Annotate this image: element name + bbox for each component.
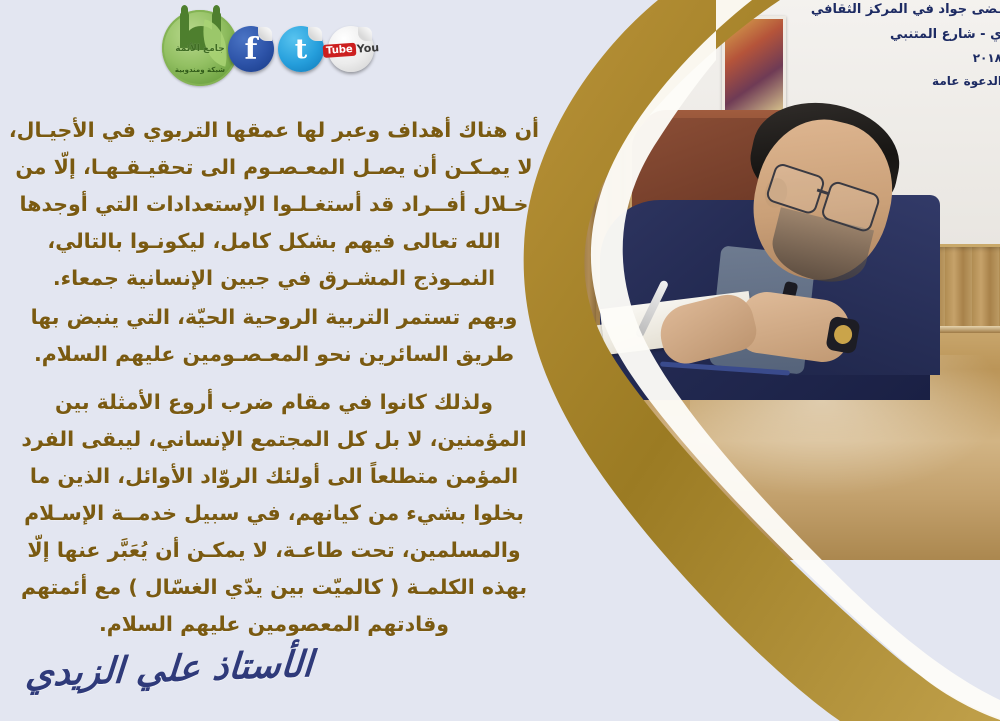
social-links: f t You Tube bbox=[228, 26, 378, 76]
banner-line-3: ٢٠١٨ bbox=[752, 47, 1000, 70]
author-signature-text: الأستاذ علي الزيدي bbox=[24, 643, 314, 695]
twitter-glyph: t bbox=[295, 34, 307, 65]
banner-line-1: ـضى جواد في المركز الثقافي bbox=[752, 0, 1000, 23]
youtube-glyph-tube: Tube bbox=[323, 42, 357, 57]
quote-paragraph-3: ولذلك كانوا في مقام ضرب أروع الأمثلة بين… bbox=[8, 384, 540, 643]
banner-line-2: ي - شارع المتنبي bbox=[752, 23, 1000, 48]
sticker-curl bbox=[358, 27, 372, 41]
poster-canvas: ـضى جواد في المركز الثقافي ي - شارع المت… bbox=[0, 0, 1000, 721]
facebook-glyph: f bbox=[245, 32, 258, 67]
author-signature: الأستاذ علي الزيدي bbox=[12, 648, 312, 710]
twitter-icon[interactable]: t bbox=[278, 26, 324, 72]
sticker-curl bbox=[308, 27, 322, 41]
facebook-icon[interactable]: f bbox=[228, 26, 274, 72]
banner-line-4: الدعوة عامة bbox=[752, 70, 1000, 93]
header-logo-row: جامع الأئمة شبكة ومندوبية f t You Tube bbox=[150, 2, 380, 94]
speaker-photo: ـضى جواد في المركز الثقافي ي - شارع المت… bbox=[540, 0, 1000, 560]
quote-paragraph-1: أن هناك أهداف وعبر لها عمقها التربوي في … bbox=[8, 112, 540, 297]
wristwatch bbox=[825, 316, 860, 355]
quote-paragraph-2: وبهم تستمر التربية الروحية الحيّة، التي … bbox=[8, 299, 540, 373]
youtube-glyph-you: You bbox=[356, 41, 379, 56]
quote-text-block: أن هناك أهداف وعبر لها عمقها التربوي في … bbox=[0, 112, 548, 643]
sticker-curl bbox=[258, 27, 272, 41]
youtube-icon[interactable]: You Tube bbox=[328, 26, 374, 72]
